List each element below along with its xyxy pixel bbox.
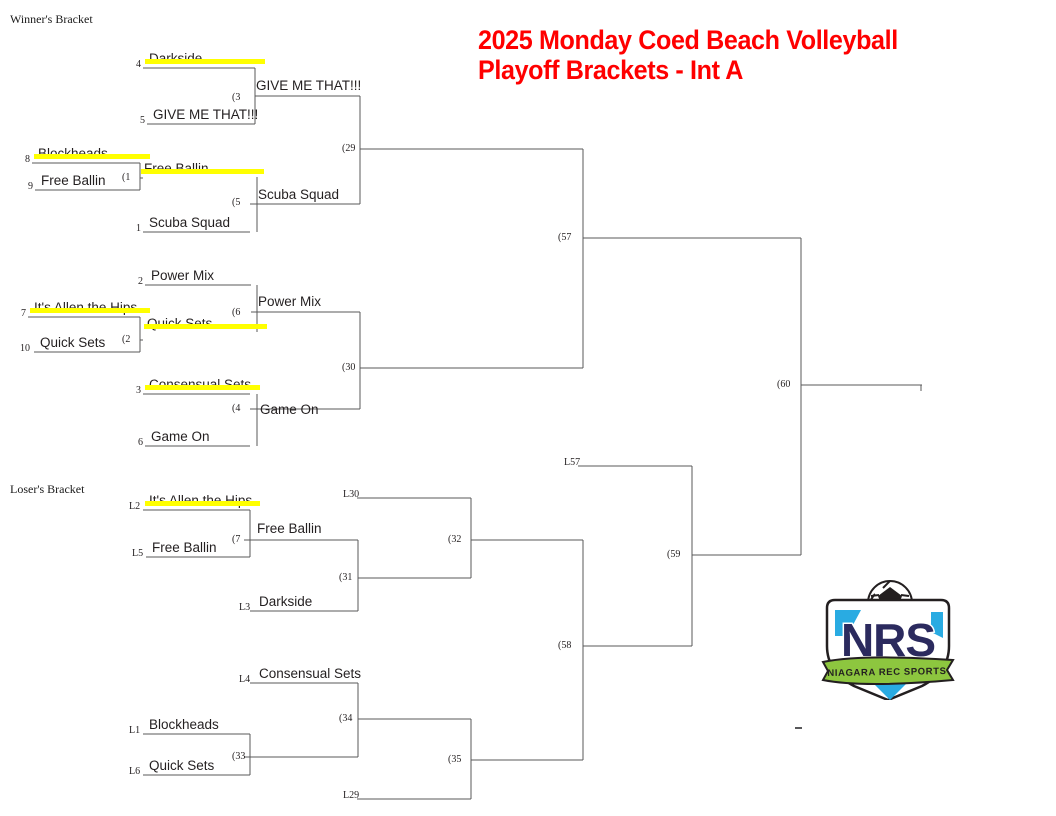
- seed-label: L4: [239, 674, 250, 685]
- game-number: (59: [667, 549, 680, 560]
- bracket-page: Winner's Bracket Loser's Bracket 2025 Mo…: [0, 0, 1056, 816]
- losers-winner-name: Free Ballin: [257, 521, 322, 536]
- winners-team-name: GIVE ME THAT!!!: [153, 107, 258, 122]
- eliminated-highlight: [144, 324, 267, 329]
- losers-team-name: Quick Sets: [149, 758, 214, 773]
- seed-label: L29: [343, 790, 359, 801]
- losers-team-name: Consensual Sets: [259, 666, 361, 681]
- stray-mark: [795, 727, 802, 729]
- seed-label: 1: [136, 223, 141, 234]
- game-number: (35: [448, 754, 461, 765]
- game-number: (1: [122, 172, 130, 183]
- seed-label: 9: [28, 181, 33, 192]
- seed-label: 4: [136, 59, 141, 70]
- winners-winner-name: Game On: [260, 402, 319, 417]
- game-number: (4: [232, 403, 240, 414]
- winners-team-name: Power Mix: [151, 268, 214, 283]
- eliminated-highlight: [141, 169, 264, 174]
- seed-label: 10: [20, 343, 30, 354]
- eliminated-highlight: [145, 501, 260, 506]
- seed-label: L2: [129, 501, 140, 512]
- seed-label: L3: [239, 602, 250, 613]
- game-number: (60: [777, 379, 790, 390]
- game-number: (6: [232, 307, 240, 318]
- seed-label: L6: [129, 766, 140, 777]
- seed-label: 2: [138, 276, 143, 287]
- losers-team-name: Free Ballin: [152, 540, 217, 555]
- eliminated-highlight: [34, 154, 150, 159]
- game-number: (34: [339, 713, 352, 724]
- seed-label: 3: [136, 385, 141, 396]
- game-number: (2: [122, 334, 130, 345]
- game-number: (5: [232, 197, 240, 208]
- losers-team-name: Darkside: [259, 594, 312, 609]
- seed-label: L5: [132, 548, 143, 559]
- game-number: (30: [342, 362, 355, 373]
- seed-label: L30: [343, 489, 359, 500]
- winners-team-name: Free Ballin: [41, 173, 106, 188]
- seed-label: 7: [21, 308, 26, 319]
- game-number: (58: [558, 640, 571, 651]
- seed-label: 5: [140, 115, 145, 126]
- game-number: (3: [232, 92, 240, 103]
- winners-winner-name: GIVE ME THAT!!!: [256, 78, 361, 93]
- eliminated-highlight: [145, 385, 260, 390]
- winners-team-name: Quick Sets: [40, 335, 105, 350]
- eliminated-highlight: [145, 59, 265, 64]
- game-number: (29: [342, 143, 355, 154]
- seed-label: 8: [25, 154, 30, 165]
- winners-winner-name: Power Mix: [258, 294, 321, 309]
- game-number: (32: [448, 534, 461, 545]
- game-number: (31: [339, 572, 352, 583]
- winners-team-name: Game On: [151, 429, 210, 444]
- svg-text:NIAGARA REC SPORTS: NIAGARA REC SPORTS: [827, 666, 946, 679]
- winners-winner-name: Scuba Squad: [258, 187, 339, 202]
- game-number: (7: [232, 534, 240, 545]
- seed-label: L1: [129, 725, 140, 736]
- seed-label: L57: [564, 457, 580, 468]
- seed-label: 6: [138, 437, 143, 448]
- eliminated-highlight: [30, 308, 150, 313]
- nrs-logo: NRS NIAGARA REC SPORTS: [813, 578, 963, 700]
- losers-team-name: Blockheads: [149, 717, 219, 732]
- winners-team-name: Scuba Squad: [149, 215, 230, 230]
- game-number: (57: [558, 232, 571, 243]
- game-number: (33: [232, 751, 245, 762]
